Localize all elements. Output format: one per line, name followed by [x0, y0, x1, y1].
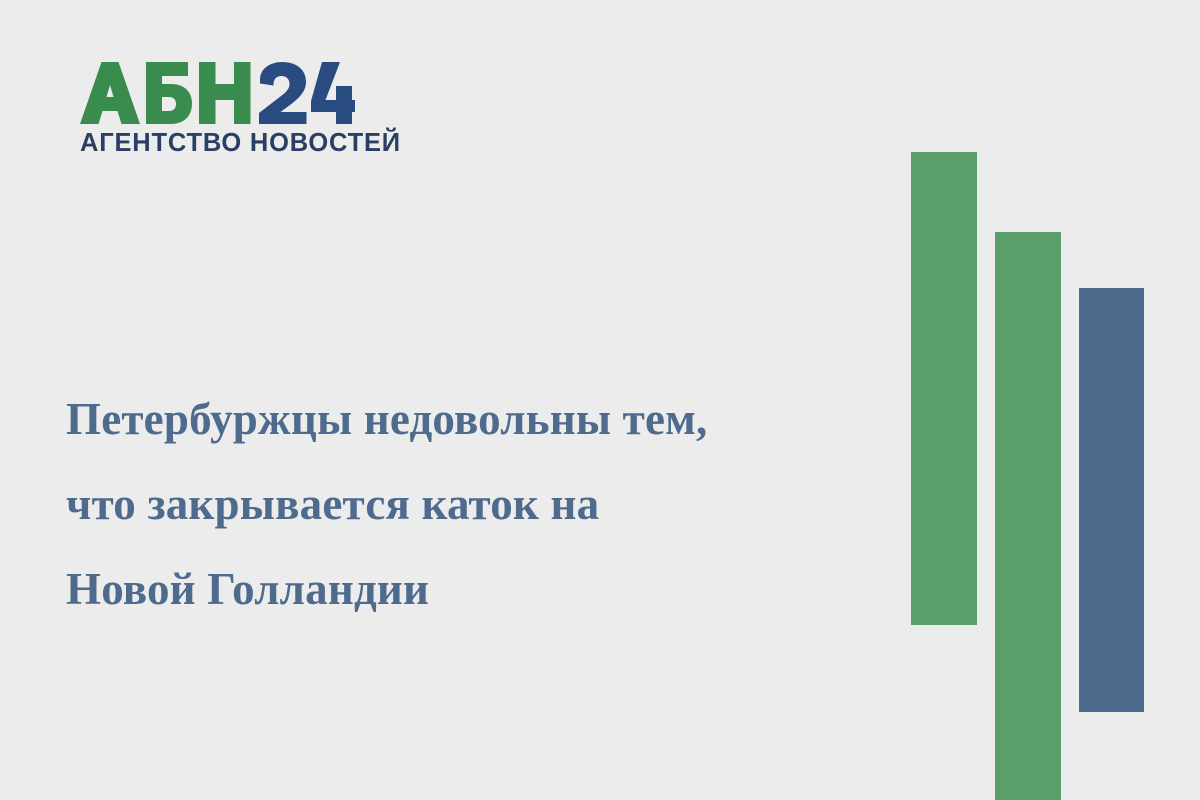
- headline: Петербуржцы недовольны тем, что закрывае…: [66, 377, 866, 632]
- headline-line-2: что закрывается каток на: [66, 462, 866, 547]
- logo-tagline: АГЕНТСТВО НОВОСТЕЙ: [80, 131, 370, 157]
- decorative-bar-tall-green: [911, 152, 977, 625]
- logo-wordmark-icon: [80, 62, 355, 124]
- logo[interactable]: АГЕНТСТВО НОВОСТЕЙ: [80, 62, 370, 160]
- decorative-bar-blue: [1079, 288, 1144, 712]
- headline-line-1: Петербуржцы недовольны тем,: [66, 377, 866, 462]
- news-card: АГЕНТСТВО НОВОСТЕЙ Петербуржцы недовольн…: [0, 0, 1200, 800]
- headline-line-3: Новой Голландии: [66, 547, 866, 632]
- decorative-bar-mid-green: [995, 232, 1061, 800]
